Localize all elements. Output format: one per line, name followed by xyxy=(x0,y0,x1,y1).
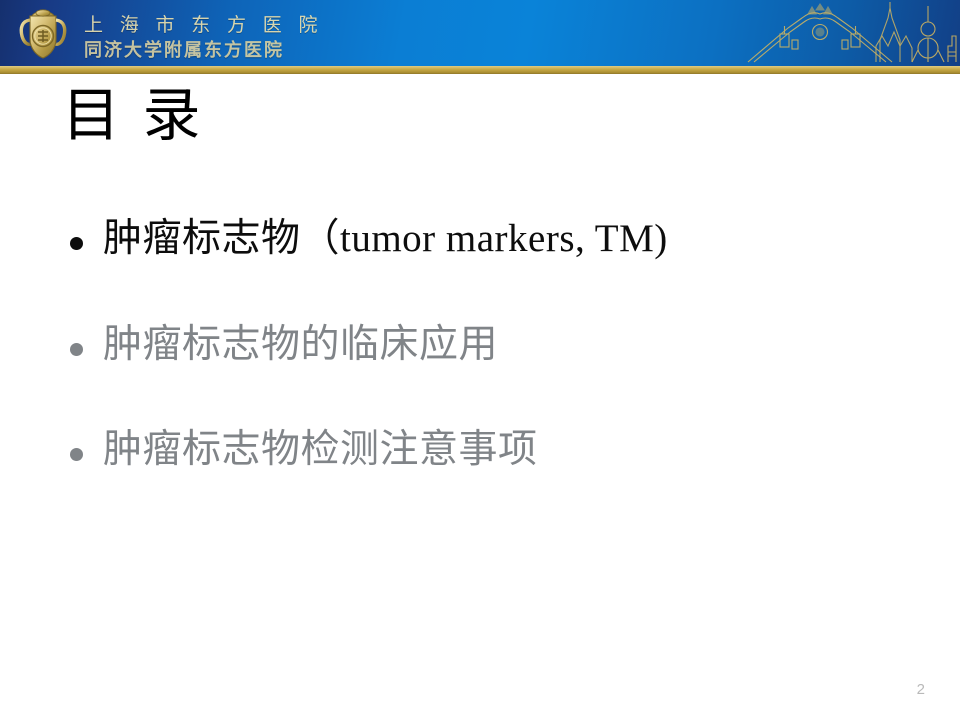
page-title: 目 录 xyxy=(62,84,205,148)
page-number: 2 xyxy=(917,681,925,698)
list-item: 肿瘤标志物的临床应用 xyxy=(70,321,900,369)
header-artwork xyxy=(740,0,960,66)
header-gold-divider xyxy=(0,66,960,74)
hospital-name-calligraphic: 上 海 市 东 方 医 院 xyxy=(84,10,324,37)
list-item-label: 肿瘤标志物检测注意事项 xyxy=(103,426,900,474)
oriental-pearl-tower-icon xyxy=(912,6,956,62)
chinese-archway-icon xyxy=(748,4,892,62)
bullet-dot-icon xyxy=(70,343,83,356)
list-item: 肿瘤标志物（tumor markers, TM) xyxy=(70,215,900,263)
list-item: 肿瘤标志物检测注意事项 xyxy=(70,426,900,474)
list-item-label: 肿瘤标志物（tumor markers, TM) xyxy=(103,215,900,263)
hospital-shield-emblem-icon xyxy=(14,6,72,62)
bullet-dot-icon xyxy=(70,448,83,461)
slide-header-banner: 上 海 市 东 方 医 院 同济大学附属东方医院 xyxy=(0,0,960,66)
list-item-label: 肿瘤标志物的临床应用 xyxy=(103,321,900,369)
presentation-slide: 上 海 市 东 方 医 院 同济大学附属东方医院 xyxy=(0,0,960,720)
agenda-list: 肿瘤标志物（tumor markers, TM) 肿瘤标志物的临床应用 肿瘤标志… xyxy=(70,215,900,532)
hospital-name-subtitle: 同济大学附属东方医院 xyxy=(84,36,284,62)
bullet-dot-icon xyxy=(70,237,83,250)
